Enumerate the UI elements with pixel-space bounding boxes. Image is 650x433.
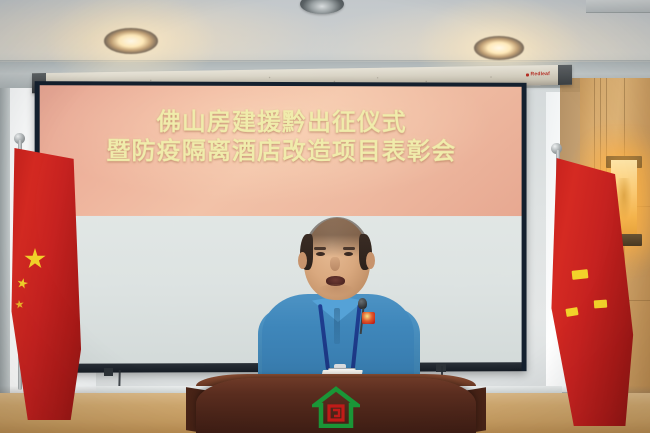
downlight-rim — [474, 36, 524, 60]
shirt-placket — [334, 308, 340, 344]
brand-mark-icon — [526, 73, 529, 76]
flag-star-large — [572, 269, 589, 280]
eye-right — [344, 252, 353, 256]
eye-left — [316, 252, 325, 256]
slide-title-line-1: 佛山房建援黔出征仪式 — [40, 107, 522, 137]
screen-hook-left — [104, 368, 113, 376]
downlight-rim — [104, 28, 158, 54]
photo-scene: Redleaf 佛山房建援黔出征仪式 暨防疫隔离酒店改造项目表彰会 — [0, 0, 650, 433]
flag-star-small — [16, 277, 29, 290]
slide-title: 佛山房建援黔出征仪式 暨防疫隔离酒店改造项目表彰会 — [40, 107, 522, 167]
chin-shadow — [318, 284, 354, 296]
podium-emblem-icon — [312, 386, 360, 428]
downlight-icon-left — [104, 28, 158, 54]
lapel-pin-icon — [362, 312, 375, 324]
housing-end-cap-right — [558, 65, 572, 85]
slide-title-line-2: 暨防疫隔离酒店改造项目表彰会 — [40, 137, 522, 167]
downlight-icon-right — [474, 36, 524, 60]
nose — [330, 257, 340, 271]
flag-star-small — [594, 300, 608, 309]
brand-label: Redleaf — [531, 71, 550, 77]
eyebrow-left — [314, 247, 326, 250]
housing-brand-logo: Redleaf — [526, 71, 550, 77]
flag-star-small — [565, 307, 578, 317]
eyebrow-right — [343, 247, 355, 250]
ear-left — [298, 252, 307, 269]
flag-star-small — [14, 299, 24, 309]
flag-star-large — [24, 248, 46, 270]
left-wall-edge — [0, 88, 10, 393]
ear-right — [366, 252, 375, 269]
ceiling-vent — [586, 0, 650, 13]
